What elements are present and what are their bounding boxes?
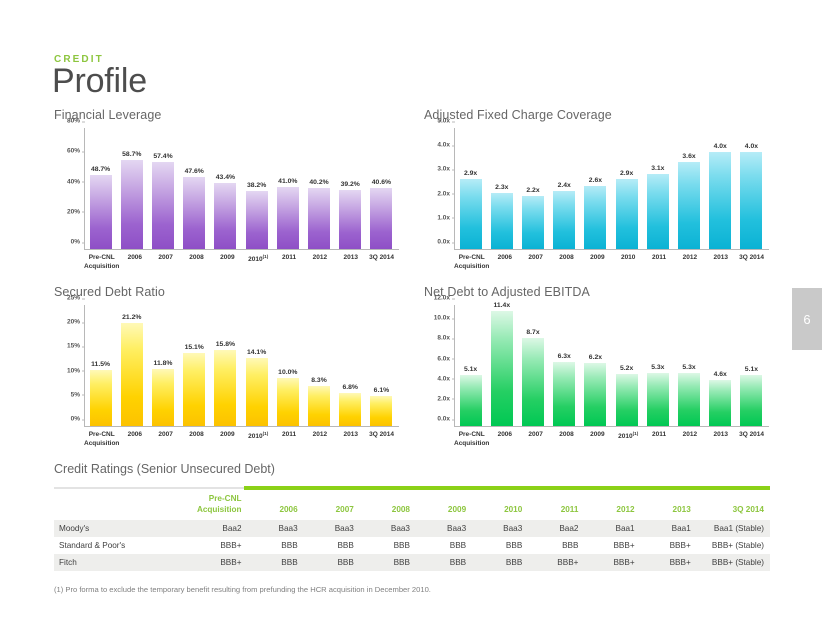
y-axis-tick: 2.0x (437, 190, 455, 197)
table-column-header: 2013 (637, 490, 693, 520)
bar-column: 38.2% (241, 128, 272, 249)
x-axis-label: Pre-CNLAcquisition (84, 254, 119, 272)
bar: 10.0% (277, 378, 299, 426)
bar-column: 3.6x (673, 128, 704, 249)
x-axis-label: 2012 (304, 254, 335, 272)
y-axis-tick: 20% (67, 208, 85, 215)
bar-column: 15.1% (179, 305, 210, 426)
rating-cell: BBB (244, 537, 300, 554)
x-axis-label: 2006 (489, 254, 520, 272)
bar: 11.4x (491, 311, 513, 426)
bar-column: 2.2x (517, 128, 548, 249)
x-axis-label: 2010(1) (243, 254, 274, 272)
bar: 8.3% (308, 386, 330, 426)
x-axis-label: 2008 (551, 254, 582, 272)
bar-value-label: 40.2% (309, 179, 328, 186)
bar-value-label: 10.0% (278, 369, 297, 376)
bar: 39.2% (339, 190, 361, 249)
bar-value-label: 47.6% (185, 168, 204, 175)
y-axis-tick: 10.0x (434, 315, 455, 322)
bar-column: 11.4x (486, 305, 517, 426)
bar-value-label: 6.3x (558, 353, 571, 360)
x-axis-label: 2011 (274, 254, 305, 272)
bar-column: 8.3% (303, 305, 334, 426)
y-axis-tick: 4.0x (437, 375, 455, 382)
bar-value-label: 15.1% (185, 344, 204, 351)
x-axis-label: 2008 (551, 431, 582, 449)
rule-green (244, 486, 770, 490)
bar: 15.8% (214, 350, 236, 426)
bar-column: 2.3x (486, 128, 517, 249)
y-axis-tick: 40% (67, 178, 85, 185)
bar: 15.1% (183, 353, 205, 426)
x-axis-label: 2008 (181, 254, 212, 272)
bar: 40.2% (308, 188, 330, 249)
bar-column: 48.7% (85, 128, 116, 249)
rating-cell: Baa3 (412, 520, 468, 537)
y-axis-tick: 10% (67, 367, 85, 374)
bar-value-label: 11.8% (154, 360, 173, 367)
chart-title: Financial Leverage (54, 108, 399, 122)
x-axis-label: 2007 (150, 254, 181, 272)
y-axis-tick: 15% (67, 343, 85, 350)
y-axis-tick: 2.0x (437, 395, 455, 402)
bar: 6.8% (339, 393, 361, 426)
rating-cell: BBB (412, 537, 468, 554)
rating-cell: BBB+ (580, 554, 636, 571)
rating-cell: Baa3 (300, 520, 356, 537)
y-axis-tick: 0% (71, 416, 85, 423)
table-corner-cell (54, 490, 170, 520)
bar-column: 8.7x (517, 305, 548, 426)
bar-column: 14.1% (241, 305, 272, 426)
bar-value-label: 2.4x (558, 182, 571, 189)
bar-value-label: 58.7% (122, 151, 141, 158)
bar-column: 58.7% (116, 128, 147, 249)
bar-column: 39.2% (335, 128, 366, 249)
bar-value-label: 43.4% (216, 174, 235, 181)
x-axis-label: 2010(1) (243, 431, 274, 449)
rating-cell: Baa3 (356, 520, 412, 537)
table-row: Moody'sBaa2Baa3Baa3Baa3Baa3Baa3Baa2Baa1B… (54, 520, 770, 537)
page-number-tab: 6 (792, 288, 822, 350)
table-header-row: Pre-CNLAcquisition2006200720082009201020… (54, 490, 770, 520)
x-axis-label: 2011 (644, 254, 675, 272)
bar-value-label: 48.7% (91, 166, 110, 173)
x-axis-label: 2007 (520, 431, 551, 449)
bar-value-label: 3.1x (651, 165, 664, 172)
chart-title: Net Debt to Adjusted EBITDA (424, 285, 769, 299)
x-axis-label: 3Q 2014 (736, 254, 767, 272)
bar-column: 47.6% (179, 128, 210, 249)
bar-column: 41.0% (272, 128, 303, 249)
x-axis-label: Pre-CNLAcquisition (84, 431, 119, 449)
rating-cell: BBB+ (Stable) (693, 537, 770, 554)
bar: 2.4x (553, 191, 575, 249)
x-axis-label: 2013 (335, 431, 366, 449)
bar: 5.3x (647, 373, 669, 426)
bar-value-label: 4.0x (714, 143, 727, 150)
bar-column: 21.2% (116, 305, 147, 426)
rating-cell: BBB (356, 554, 412, 571)
bar-column: 2.9x (455, 128, 486, 249)
bar-value-label: 57.4% (153, 153, 172, 160)
slide-canvas: CREDIT Profile 6 Financial Leverage 48.7… (0, 0, 822, 635)
bar-value-label: 21.2% (122, 314, 141, 321)
bar-column: 2.9x (611, 128, 642, 249)
y-axis-tick: 8.0x (437, 335, 455, 342)
bar-column: 4.0x (736, 128, 767, 249)
rating-cell: BBB+ (637, 554, 693, 571)
x-axis-label: 2006 (119, 431, 150, 449)
bar-value-label: 5.2x (620, 365, 633, 372)
rating-cell: Baa3 (244, 520, 300, 537)
bar: 40.6% (370, 188, 392, 249)
x-axis-label: Pre-CNLAcquisition (454, 254, 489, 272)
bar-value-label: 38.2% (247, 182, 266, 189)
rating-cell: Baa1 (580, 520, 636, 537)
table-row: FitchBBB+BBBBBBBBBBBBBBBBBB+BBB+BBB+BBB+… (54, 554, 770, 571)
x-axis-label: 2012 (674, 254, 705, 272)
bar: 4.0x (709, 152, 731, 249)
x-axis-label: 2013 (705, 254, 736, 272)
x-axis-label: 2010(1) (613, 431, 644, 449)
bar: 4.6x (709, 380, 731, 426)
bar-value-label: 2.3x (495, 184, 508, 191)
bar: 48.7% (90, 175, 112, 249)
x-axis-label: 3Q 2014 (736, 431, 767, 449)
rating-cell: BBB (468, 537, 524, 554)
bar-column: 6.1% (366, 305, 397, 426)
bar-value-label: 5.1x (464, 366, 477, 373)
y-axis-tick: 6.0x (437, 355, 455, 362)
bar-column: 3.1x (642, 128, 673, 249)
bar: 21.2% (121, 323, 143, 426)
rating-cell: Baa1 (Stable) (693, 520, 770, 537)
rating-cell: Baa2 (524, 520, 580, 537)
credit-ratings-title: Credit Ratings (Senior Unsecured Debt) (54, 462, 770, 476)
bar-column: 6.3x (549, 305, 580, 426)
bar: 2.6x (584, 186, 606, 249)
bar-value-label: 6.8% (342, 384, 358, 391)
bar-column: 10.0% (272, 305, 303, 426)
bar: 57.4% (152, 162, 174, 249)
y-axis-tick: 0% (71, 239, 85, 246)
x-axis-label: 2008 (181, 431, 212, 449)
bar-value-label: 40.6% (372, 179, 391, 186)
rating-cell: Baa1 (637, 520, 693, 537)
bar: 5.3x (678, 373, 700, 426)
bar-column: 15.8% (210, 305, 241, 426)
bar-value-label: 3.6x (682, 153, 695, 160)
chart-adjusted-fixed-charge-coverage: Adjusted Fixed Charge Coverage 2.9x2.3x2… (424, 108, 769, 250)
bar-value-label: 5.1x (745, 366, 758, 373)
rating-cell: BBB+ (170, 554, 244, 571)
bar-column: 2.4x (549, 128, 580, 249)
x-axis-label: 2011 (644, 431, 675, 449)
x-axis-label: 2012 (304, 431, 335, 449)
bar-value-label: 2.6x (589, 177, 602, 184)
table-row: Standard & Poor'sBBB+BBBBBBBBBBBBBBBBBBB… (54, 537, 770, 554)
rating-cell: BBB (300, 554, 356, 571)
rating-cell: BBB (356, 537, 412, 554)
x-axis-label: 2007 (150, 431, 181, 449)
bar-column: 57.4% (147, 128, 178, 249)
bar-value-label: 4.6x (714, 371, 727, 378)
y-axis-tick: 80% (67, 118, 85, 125)
x-axis-label: 2011 (274, 431, 305, 449)
bar: 5.1x (460, 375, 482, 426)
bar: 41.0% (277, 187, 299, 249)
bar-column: 5.1x (736, 305, 767, 426)
bar-column: 5.1x (455, 305, 486, 426)
rating-cell: BBB+ (580, 537, 636, 554)
page-number-label: 6 (803, 312, 810, 327)
bar-column: 11.8% (147, 305, 178, 426)
bar-value-label: 15.8% (216, 341, 235, 348)
bar: 47.6% (183, 177, 205, 249)
bar: 3.1x (647, 174, 669, 249)
footnote: (1) Pro forma to exclude the temporary b… (54, 585, 431, 594)
table-body: Moody'sBaa2Baa3Baa3Baa3Baa3Baa3Baa2Baa1B… (54, 520, 770, 571)
y-axis-tick: 25% (67, 295, 85, 302)
rating-cell: BBB (524, 537, 580, 554)
rating-agency-name: Moody's (54, 520, 170, 537)
rule-grey (54, 487, 244, 489)
x-axis-label: 2006 (119, 254, 150, 272)
rating-cell: BBB+ (637, 537, 693, 554)
bar-column: 40.6% (366, 128, 397, 249)
rating-cell: BBB (300, 537, 356, 554)
bar-value-label: 8.3% (311, 377, 327, 384)
bar-value-label: 39.2% (341, 181, 360, 188)
bar-column: 4.6x (705, 305, 736, 426)
bar-column: 43.4% (210, 128, 241, 249)
x-axis-label: 3Q 2014 (366, 254, 397, 272)
table-column-header: 2007 (300, 490, 356, 520)
bar-value-label: 5.3x (651, 364, 664, 371)
rating-cell: BBB (468, 554, 524, 571)
chart-title: Adjusted Fixed Charge Coverage (424, 108, 769, 122)
bar: 5.2x (616, 374, 638, 426)
bar-column: 11.5% (85, 305, 116, 426)
x-axis-label: 2009 (212, 431, 243, 449)
x-axis-label: 2010 (613, 254, 644, 272)
page-title: Profile (52, 62, 147, 101)
y-axis-tick: 3.0x (437, 166, 455, 173)
bar-value-label: 2.9x (464, 170, 477, 177)
x-axis-label: Pre-CNLAcquisition (454, 431, 489, 449)
y-axis-tick: 5% (71, 391, 85, 398)
bar-value-label: 11.5% (91, 361, 110, 368)
rating-cell: Baa3 (468, 520, 524, 537)
chart-net-debt-to-adjusted-ebitda: Net Debt to Adjusted EBITDA 5.1x11.4x8.7… (424, 285, 769, 427)
bar: 11.8% (152, 369, 174, 426)
bar: 43.4% (214, 183, 236, 249)
bar: 3.6x (678, 162, 700, 249)
x-axis-label: 2013 (705, 431, 736, 449)
bar: 38.2% (246, 191, 268, 249)
x-axis-label: 2009 (212, 254, 243, 272)
bar-value-label: 2.9x (620, 170, 633, 177)
bar-column: 5.2x (611, 305, 642, 426)
chart-secured-debt-ratio: Secured Debt Ratio 11.5%21.2%11.8%15.1%1… (54, 285, 399, 427)
rating-cell: BBB+ (170, 537, 244, 554)
bar-column: 6.2x (580, 305, 611, 426)
table-column-header: 2008 (356, 490, 412, 520)
rating-cell: BBB+ (Stable) (693, 554, 770, 571)
bar-column: 6.8% (335, 305, 366, 426)
bar: 58.7% (121, 160, 143, 249)
rating-cell: Baa2 (170, 520, 244, 537)
bar: 2.9x (616, 179, 638, 249)
bar: 5.1x (740, 375, 762, 426)
bar-value-label: 8.7x (526, 329, 539, 336)
bar-column: 5.3x (673, 305, 704, 426)
bar: 6.2x (584, 363, 606, 426)
bar-value-label: 2.2x (526, 187, 539, 194)
x-axis-label: 2013 (335, 254, 366, 272)
bar: 2.9x (460, 179, 482, 249)
bar-value-label: 5.3x (682, 364, 695, 371)
y-axis-tick: 20% (67, 319, 85, 326)
bar: 11.5% (90, 370, 112, 426)
table-column-header: 3Q 2014 (693, 490, 770, 520)
chart-financial-leverage: Financial Leverage 48.7%58.7%57.4%47.6%4… (54, 108, 399, 250)
x-axis-label: 3Q 2014 (366, 431, 397, 449)
bar-column: 5.3x (642, 305, 673, 426)
table-column-header: 2012 (580, 490, 636, 520)
bar-column: 2.6x (580, 128, 611, 249)
bar-value-label: 6.1% (374, 387, 390, 394)
bar: 6.1% (370, 396, 392, 426)
table-column-header: 2011 (524, 490, 580, 520)
x-axis-label: 2009 (582, 254, 613, 272)
rating-cell: BBB+ (524, 554, 580, 571)
table-column-header: 2010 (468, 490, 524, 520)
table-column-header: Pre-CNLAcquisition (170, 490, 244, 520)
bar-value-label: 6.2x (589, 354, 602, 361)
rating-agency-name: Fitch (54, 554, 170, 571)
bar-value-label: 4.0x (745, 143, 758, 150)
bar: 6.3x (553, 362, 575, 426)
chart-title: Secured Debt Ratio (54, 285, 399, 299)
bar: 8.7x (522, 338, 544, 426)
x-axis-label: 2006 (489, 431, 520, 449)
bar: 14.1% (246, 358, 268, 426)
bar-column: 40.2% (303, 128, 334, 249)
table-column-header: 2006 (244, 490, 300, 520)
y-axis-tick: 12.0x (434, 295, 455, 302)
y-axis-tick: 60% (67, 148, 85, 155)
y-axis-tick: 0.0x (437, 416, 455, 423)
rating-cell: BBB (412, 554, 468, 571)
bar-value-label: 41.0% (278, 178, 297, 185)
bar-value-label: 14.1% (247, 349, 266, 356)
bar-column: 4.0x (705, 128, 736, 249)
bar: 2.2x (522, 196, 544, 249)
y-axis-tick: 0.0x (437, 239, 455, 246)
credit-ratings-table: Pre-CNLAcquisition2006200720082009201020… (54, 490, 770, 571)
table-column-header: 2009 (412, 490, 468, 520)
y-axis-tick: 5.0x (437, 118, 455, 125)
bar: 4.0x (740, 152, 762, 249)
rating-cell: BBB (244, 554, 300, 571)
bar: 2.3x (491, 193, 513, 249)
x-axis-label: 2012 (674, 431, 705, 449)
y-axis-tick: 4.0x (437, 142, 455, 149)
x-axis-label: 2009 (582, 431, 613, 449)
x-axis-label: 2007 (520, 254, 551, 272)
rating-agency-name: Standard & Poor's (54, 537, 170, 554)
bar-value-label: 11.4x (493, 302, 510, 309)
credit-ratings-section: Credit Ratings (Senior Unsecured Debt) P… (54, 462, 770, 571)
y-axis-tick: 1.0x (437, 214, 455, 221)
